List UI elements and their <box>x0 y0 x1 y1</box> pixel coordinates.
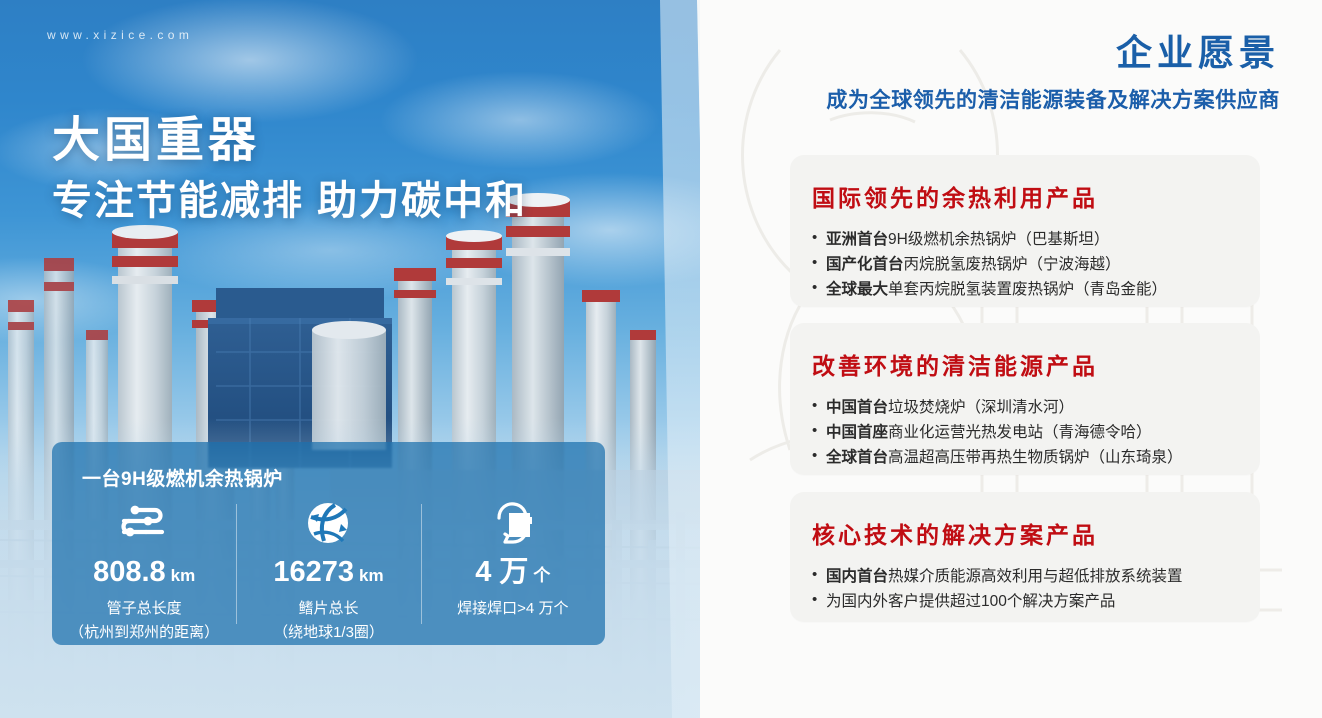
stats-panel-title: 一台9H级燃机余热锅炉 <box>82 464 283 491</box>
card-bullet-item: 中国首座商业化运营光热发电站（青海德令哈） <box>812 420 1260 445</box>
card-bullet-item: 中国首台垃圾焚烧炉（深圳清水河） <box>812 395 1260 420</box>
card-bullet-item: 国内首台热媒介质能源高效利用与超低排放系统装置 <box>812 564 1260 589</box>
stat-item-weld-joints: 4 万 个 焊接焊口>4 万个 <box>421 500 605 621</box>
card-bullet-item: 为国内外客户提供超过100个解决方案产品 <box>812 589 1260 614</box>
site-url-watermark: www.xizice.com <box>47 28 193 42</box>
slide-root: www.xizice.com 大国重器 专注节能减排 助力碳中和 一台9H级燃机… <box>0 0 1322 718</box>
stat-item-fin-length: 16273 km 鳍片总长 （绕地球1/3圈） <box>236 500 420 642</box>
stat-value: 16273 <box>273 558 354 587</box>
bullet-emphasis: 国产化首台 <box>826 256 904 273</box>
bullet-emphasis: 中国首座 <box>826 424 888 441</box>
bullet-emphasis: 国内首台 <box>826 568 888 585</box>
pipe-route-icon <box>115 500 173 546</box>
hero-headline: 大国重器 <box>52 100 260 170</box>
bullet-emphasis: 中国首台 <box>826 399 888 416</box>
stat-value: 808.8 <box>93 558 166 587</box>
stat-label-2: （绕地球1/3圈） <box>273 621 384 642</box>
card-bullet-list: 中国首台垃圾焚烧炉（深圳清水河）中国首座商业化运营光热发电站（青海德令哈）全球首… <box>812 395 1260 470</box>
card-bullet-item: 全球最大单套丙烷脱氢装置废热锅炉（青岛金能） <box>812 277 1260 302</box>
stat-unit: km <box>171 567 196 584</box>
card-bullet-item: 全球首台高温超高压带再热生物质锅炉（山东琦泉） <box>812 445 1260 470</box>
stat-item-pipe-length: 808.8 km 管子总长度 （杭州到郑州的距离） <box>52 500 236 642</box>
pipe-route-svg <box>115 503 173 543</box>
stat-value-wrap: 4 万 个 <box>475 558 550 587</box>
vision-panel: 企业愿景 成为全球领先的清洁能源装备及解决方案供应商 国际领先的余热利用产品 亚… <box>700 0 1322 718</box>
card-bullet-list: 国内首台热媒介质能源高效利用与超低排放系统装置为国内外客户提供超过100个解决方… <box>812 564 1260 614</box>
stats-row: 808.8 km 管子总长度 （杭州到郑州的距离） <box>52 500 605 645</box>
stat-value: 4 万 <box>475 558 528 587</box>
page-title: 企业愿景 <box>1116 24 1280 76</box>
card-heading: 核心技术的解决方案产品 <box>812 516 1260 550</box>
stat-unit: 个 <box>533 567 550 584</box>
card-heading: 改善环境的清洁能源产品 <box>812 347 1260 381</box>
hero-subheadline: 专注节能减排 助力碳中和 <box>52 168 527 226</box>
stats-panel: 一台9H级燃机余热锅炉 <box>52 442 605 645</box>
card-bullet-item: 国产化首台丙烷脱氢废热锅炉（宁波海越） <box>812 252 1260 277</box>
stat-value-wrap: 16273 km <box>273 558 383 587</box>
page-subtitle: 成为全球领先的清洁能源装备及解决方案供应商 <box>826 84 1280 114</box>
hero-photo: www.xizice.com 大国重器 专注节能减排 助力碳中和 一台9H级燃机… <box>0 0 712 718</box>
stat-label-1: 管子总长度 <box>107 597 182 618</box>
bullet-emphasis: 全球首台 <box>826 449 888 466</box>
vision-card-3: 核心技术的解决方案产品 国内首台热媒介质能源高效利用与超低排放系统装置为国内外客… <box>790 492 1260 622</box>
vision-card-2: 改善环境的清洁能源产品 中国首台垃圾焚烧炉（深圳清水河）中国首座商业化运营光热发… <box>790 323 1260 475</box>
bullet-emphasis: 全球最大 <box>826 281 888 298</box>
stat-value-wrap: 808.8 km <box>93 558 195 587</box>
stat-label-2: （杭州到郑州的距离） <box>69 621 219 642</box>
welding-helmet-svg <box>490 500 536 546</box>
stat-label-1: 鳍片总长 <box>298 597 358 618</box>
card-heading: 国际领先的余热利用产品 <box>812 179 1260 213</box>
card-bullet-item: 亚洲首台9H级燃机余热锅炉（巴基斯坦） <box>812 227 1260 252</box>
globe-arrows-svg <box>305 500 351 546</box>
stat-unit: km <box>359 567 384 584</box>
globe-arrows-icon <box>305 500 351 546</box>
card-bullet-list: 亚洲首台9H级燃机余热锅炉（巴基斯坦）国产化首台丙烷脱氢废热锅炉（宁波海越）全球… <box>812 227 1260 302</box>
vision-card-1: 国际领先的余热利用产品 亚洲首台9H级燃机余热锅炉（巴基斯坦）国产化首台丙烷脱氢… <box>790 155 1260 307</box>
stat-label-1: 焊接焊口>4 万个 <box>457 597 568 618</box>
bullet-emphasis: 亚洲首台 <box>826 231 888 248</box>
welding-helmet-icon <box>490 500 536 546</box>
